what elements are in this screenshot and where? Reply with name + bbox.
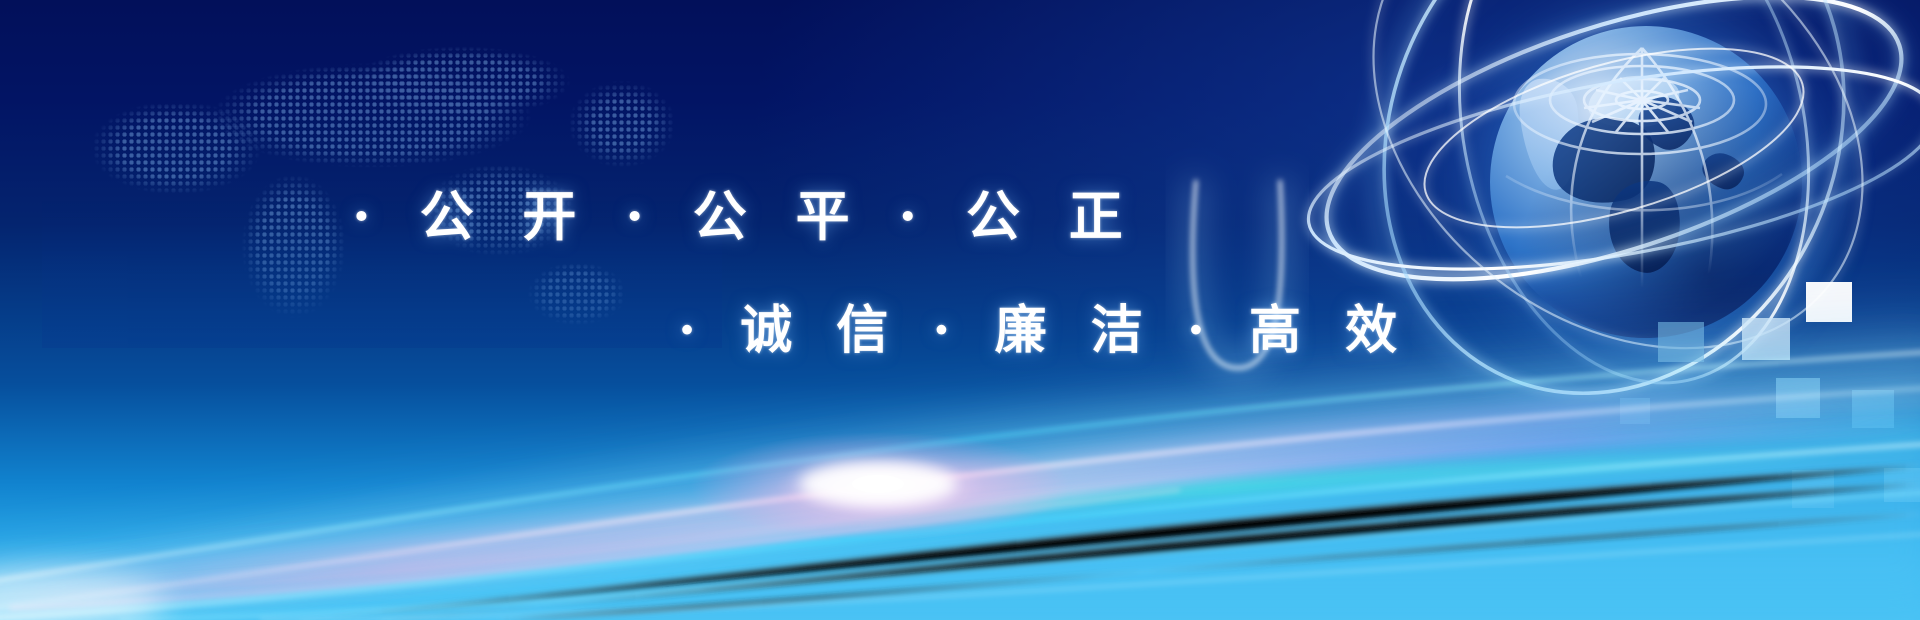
map-region-oceania	[512, 256, 642, 338]
slogan-line-2: · 诚 信 · 廉 洁 · 高 效	[678, 288, 1410, 363]
square-pale-3	[1776, 378, 1820, 418]
square-pale-4	[1852, 390, 1894, 428]
square-bright	[1806, 282, 1852, 322]
square-pale-1	[1742, 318, 1790, 360]
square-pale-2	[1658, 322, 1704, 362]
map-region-eurasia	[182, 52, 562, 174]
globe-graphic	[1402, 0, 1872, 418]
hero-banner: · 公 开 · 公 平 · 公 正 · 诚 信 · 廉 洁 · 高 效	[0, 0, 1920, 620]
slogan-line-1: · 公 开 · 公 平 · 公 正	[352, 172, 1138, 251]
map-region-north-asia	[342, 38, 592, 118]
square-pale-7	[1620, 398, 1650, 424]
map-region-europe	[72, 96, 272, 204]
square-pale-5	[1792, 470, 1834, 508]
map-region-far-east	[562, 70, 712, 178]
square-pale-6	[1884, 468, 1920, 502]
